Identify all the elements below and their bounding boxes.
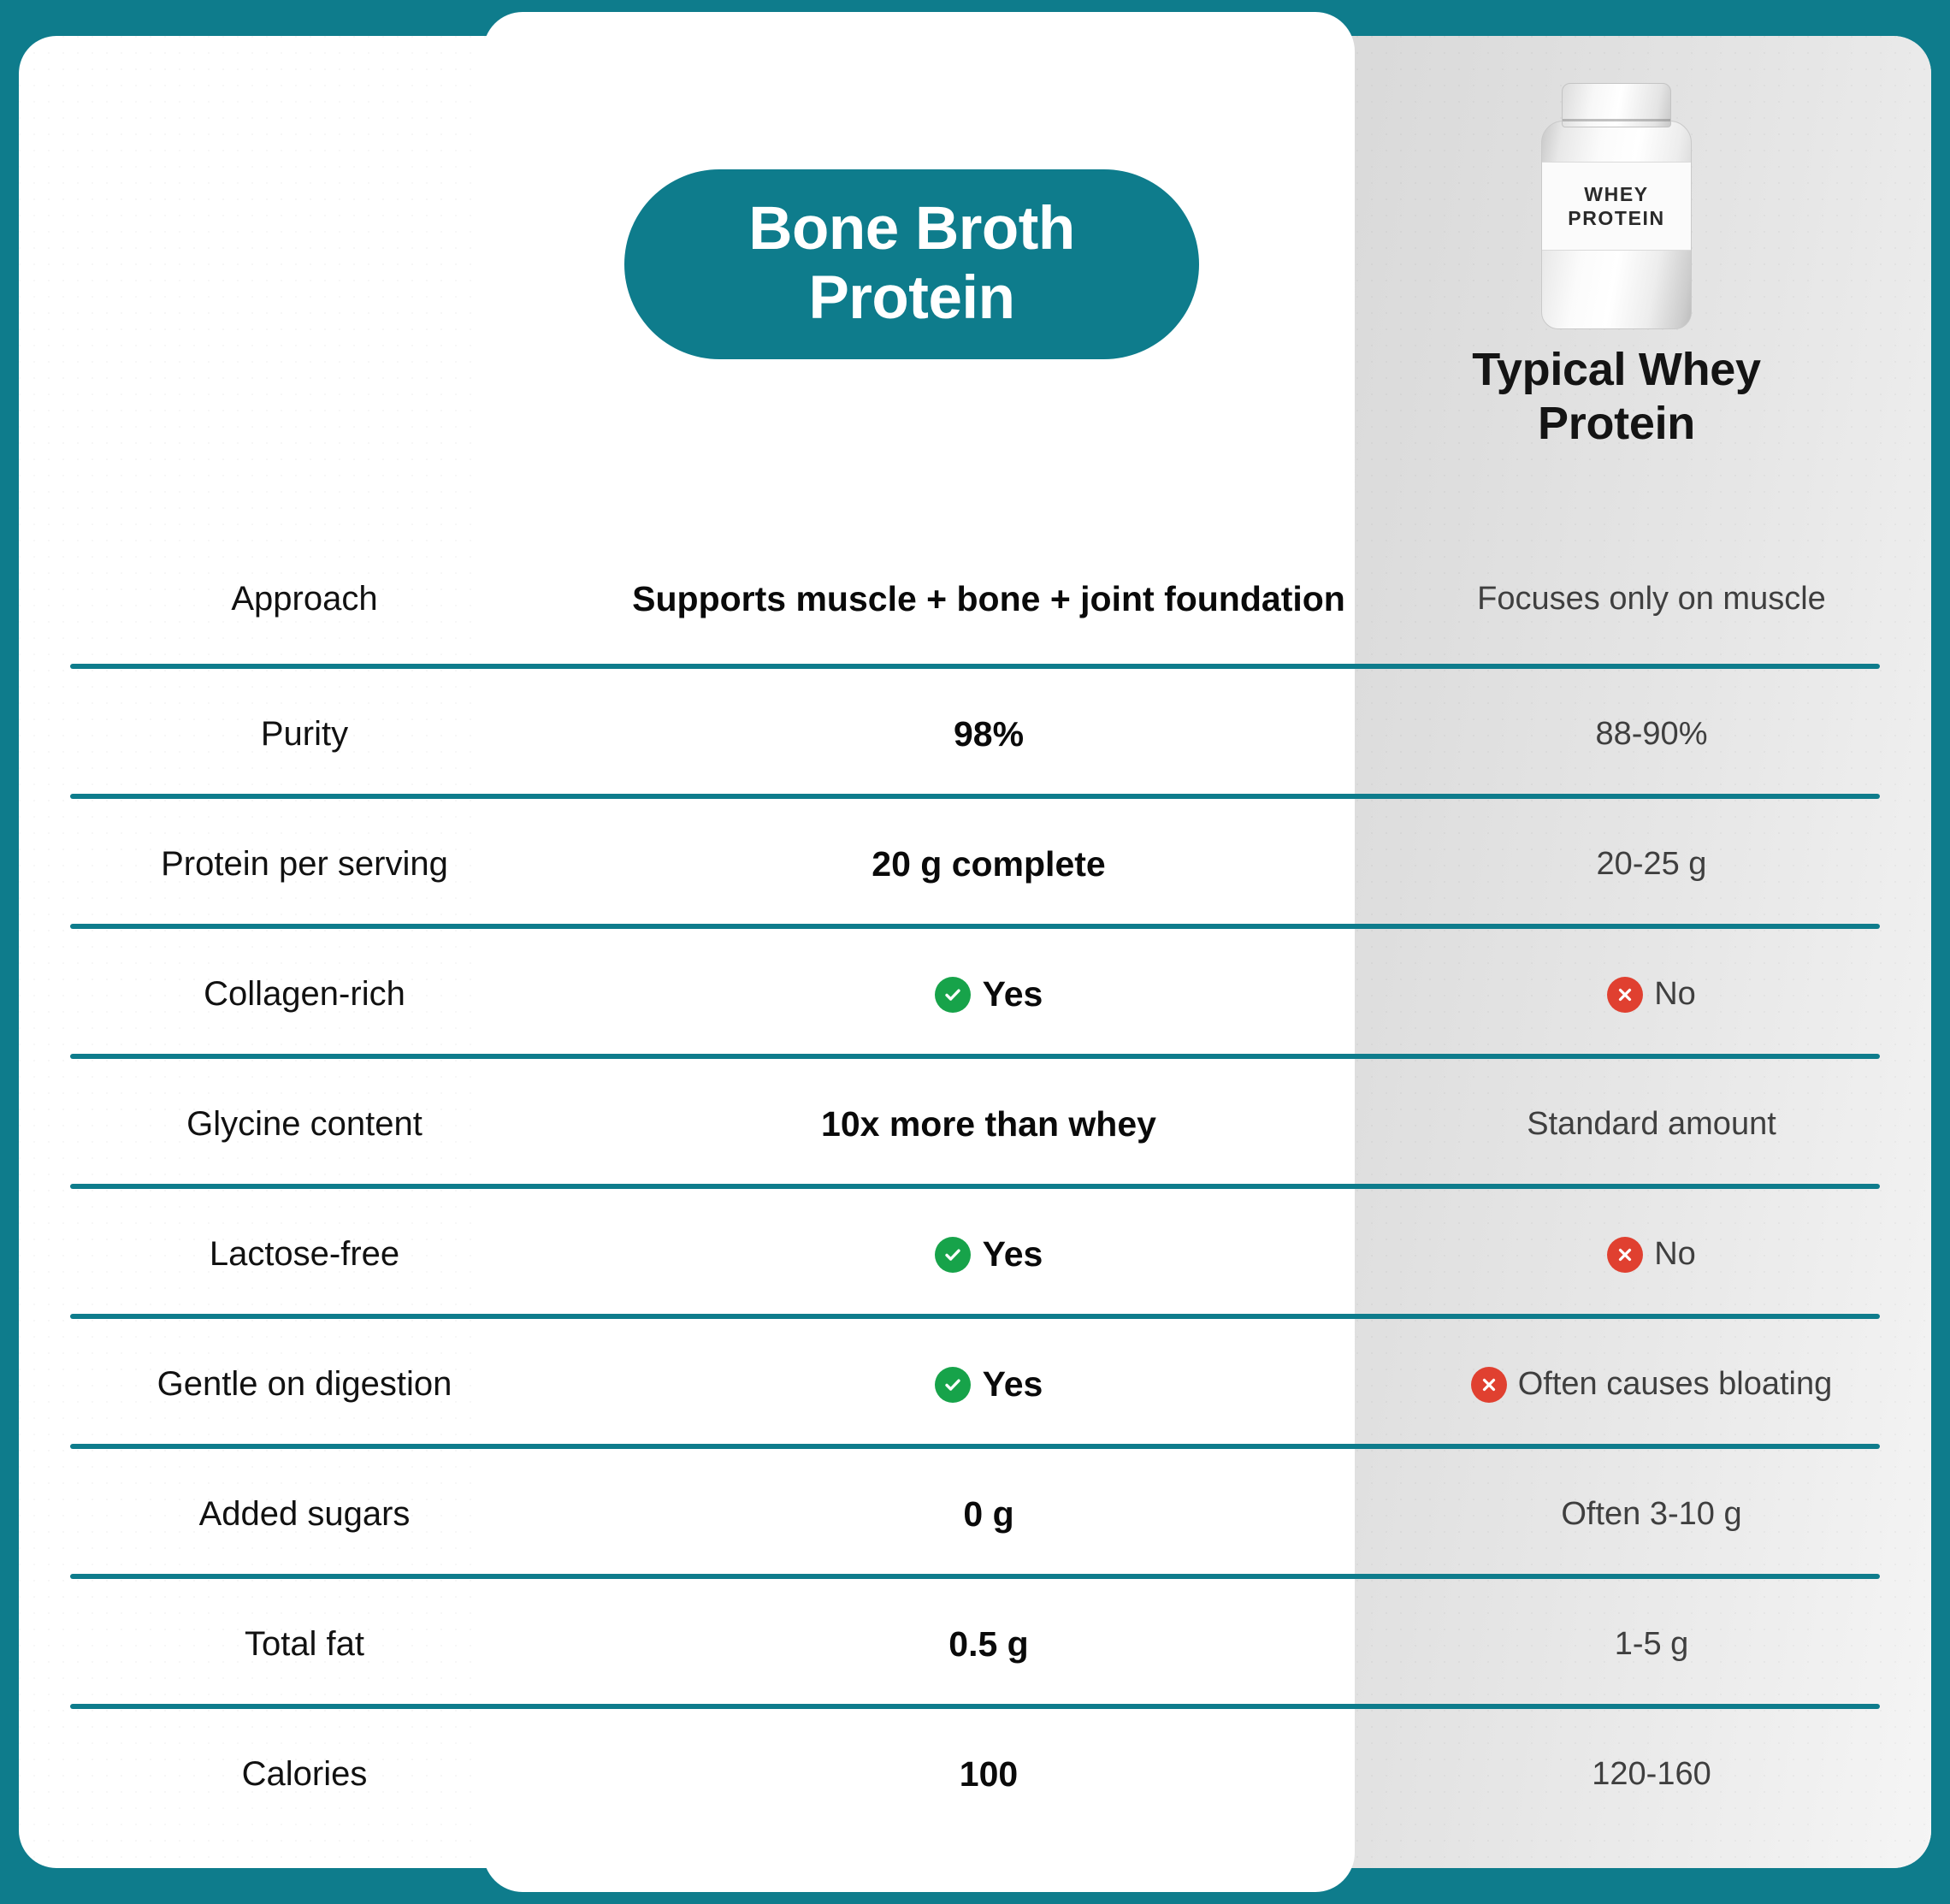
whey-value: No (1353, 1234, 1950, 1274)
row-label: Protein per serving (0, 843, 624, 884)
whey-value: Often causes bloating (1353, 1364, 1950, 1404)
bone-broth-value-text: 0.5 g (948, 1623, 1028, 1665)
cross-circle-icon (1607, 1237, 1643, 1273)
bone-broth-value-text: Yes (983, 973, 1043, 1015)
whey-value-text: 88-90% (1596, 714, 1708, 754)
bone-broth-value-text: 98% (954, 713, 1024, 755)
bone-broth-value-text: 20 g complete (872, 843, 1105, 885)
bone-broth-value-text: 0 g (963, 1493, 1013, 1535)
whey-value-text: Standard amount (1527, 1104, 1776, 1144)
bone-broth-value: Yes (624, 1233, 1353, 1275)
typical-whey-protein-header: WHEY PROTEIN Typical Whey Protein (1368, 81, 1864, 450)
check-circle-icon (935, 977, 971, 1013)
whey-value: Often 3-10 g (1353, 1494, 1950, 1534)
row-label: Purity (0, 713, 624, 754)
row-label: Added sugars (0, 1493, 624, 1534)
whey-title-line-1: Typical Whey (1368, 343, 1864, 397)
table-row: Total fat0.5 g1-5 g (0, 1579, 1950, 1709)
comparison-table: ApproachSupports muscle + bone + joint f… (0, 529, 1950, 1839)
row-label: Gentle on digestion (0, 1363, 624, 1404)
whey-value-text: 120-160 (1592, 1754, 1711, 1794)
jar-lid (1562, 83, 1671, 127)
whey-title-line-2: Protein (1368, 397, 1864, 451)
jar-label-line-2: PROTEIN (1568, 209, 1664, 228)
whey-value-text: 20-25 g (1597, 844, 1707, 884)
bone-broth-value: 0.5 g (624, 1623, 1353, 1665)
jar-label-line-1: WHEY (1584, 185, 1648, 204)
whey-value: Standard amount (1353, 1104, 1950, 1144)
table-row: Lactose-freeYesNo (0, 1189, 1950, 1319)
table-row: Collagen-richYesNo (0, 929, 1950, 1059)
bone-broth-value-text: Yes (983, 1233, 1043, 1275)
whey-value-text: Often 3-10 g (1561, 1494, 1741, 1534)
row-label: Calories (0, 1753, 624, 1795)
badge-line-1: Bone Broth (748, 195, 1075, 264)
check-circle-icon (935, 1367, 971, 1403)
table-row: Calories100120-160 (0, 1709, 1950, 1839)
table-row: Protein per serving20 g complete20-25 g (0, 799, 1950, 929)
whey-value-text: Focuses only on muscle (1477, 579, 1826, 618)
comparison-infographic: Bone Broth Protein WHEY PROTEIN Typical … (0, 0, 1950, 1904)
whey-value: 1-5 g (1353, 1624, 1950, 1664)
row-label: Collagen-rich (0, 973, 624, 1014)
table-row: Gentle on digestionYesOften causes bloat… (0, 1319, 1950, 1449)
row-label: Total fat (0, 1623, 624, 1665)
row-label: Glycine content (0, 1103, 624, 1144)
row-label: Approach (0, 578, 624, 619)
cross-circle-icon (1607, 977, 1643, 1013)
comparison-content: Bone Broth Protein WHEY PROTEIN Typical … (0, 0, 1950, 1904)
jar-label: WHEY PROTEIN (1542, 162, 1691, 251)
whey-value: 20-25 g (1353, 844, 1950, 884)
bone-broth-value-text: 10x more than whey (821, 1103, 1156, 1145)
protein-tub-icon: WHEY PROTEIN (1531, 81, 1702, 331)
bone-broth-value: Supports muscle + bone + joint foundatio… (624, 577, 1353, 620)
table-row: Glycine content10x more than wheyStandar… (0, 1059, 1950, 1189)
row-label: Lactose-free (0, 1233, 624, 1274)
whey-value-text: No (1654, 974, 1696, 1014)
cross-circle-icon (1471, 1367, 1507, 1403)
whey-value: 120-160 (1353, 1754, 1950, 1794)
table-row: Purity98%88-90% (0, 669, 1950, 799)
bone-broth-value: 10x more than whey (624, 1103, 1353, 1145)
bone-broth-value-text: Supports muscle + bone + joint foundatio… (632, 577, 1345, 620)
bone-broth-value: 0 g (624, 1493, 1353, 1535)
whey-value: 88-90% (1353, 714, 1950, 754)
bone-broth-value: 20 g complete (624, 843, 1353, 885)
bone-broth-value: Yes (624, 973, 1353, 1015)
whey-value: No (1353, 974, 1950, 1014)
bone-broth-value-text: Yes (983, 1363, 1043, 1405)
table-row: ApproachSupports muscle + bone + joint f… (0, 529, 1950, 669)
bone-broth-value-text: 100 (960, 1753, 1018, 1795)
whey-value-text: No (1654, 1234, 1696, 1274)
whey-value: Focuses only on muscle (1353, 579, 1950, 618)
bone-broth-value: 100 (624, 1753, 1353, 1795)
bone-broth-protein-badge: Bone Broth Protein (624, 169, 1199, 359)
whey-column-title: Typical Whey Protein (1368, 343, 1864, 450)
bone-broth-value: 98% (624, 713, 1353, 755)
bone-broth-badge-text: Bone Broth Protein (748, 195, 1075, 334)
bone-broth-value: Yes (624, 1363, 1353, 1405)
badge-line-2: Protein (748, 264, 1075, 334)
check-circle-icon (935, 1237, 971, 1273)
table-row: Added sugars0 gOften 3-10 g (0, 1449, 1950, 1579)
whey-value-text: 1-5 g (1615, 1624, 1689, 1664)
whey-value-text: Often causes bloating (1518, 1364, 1833, 1404)
